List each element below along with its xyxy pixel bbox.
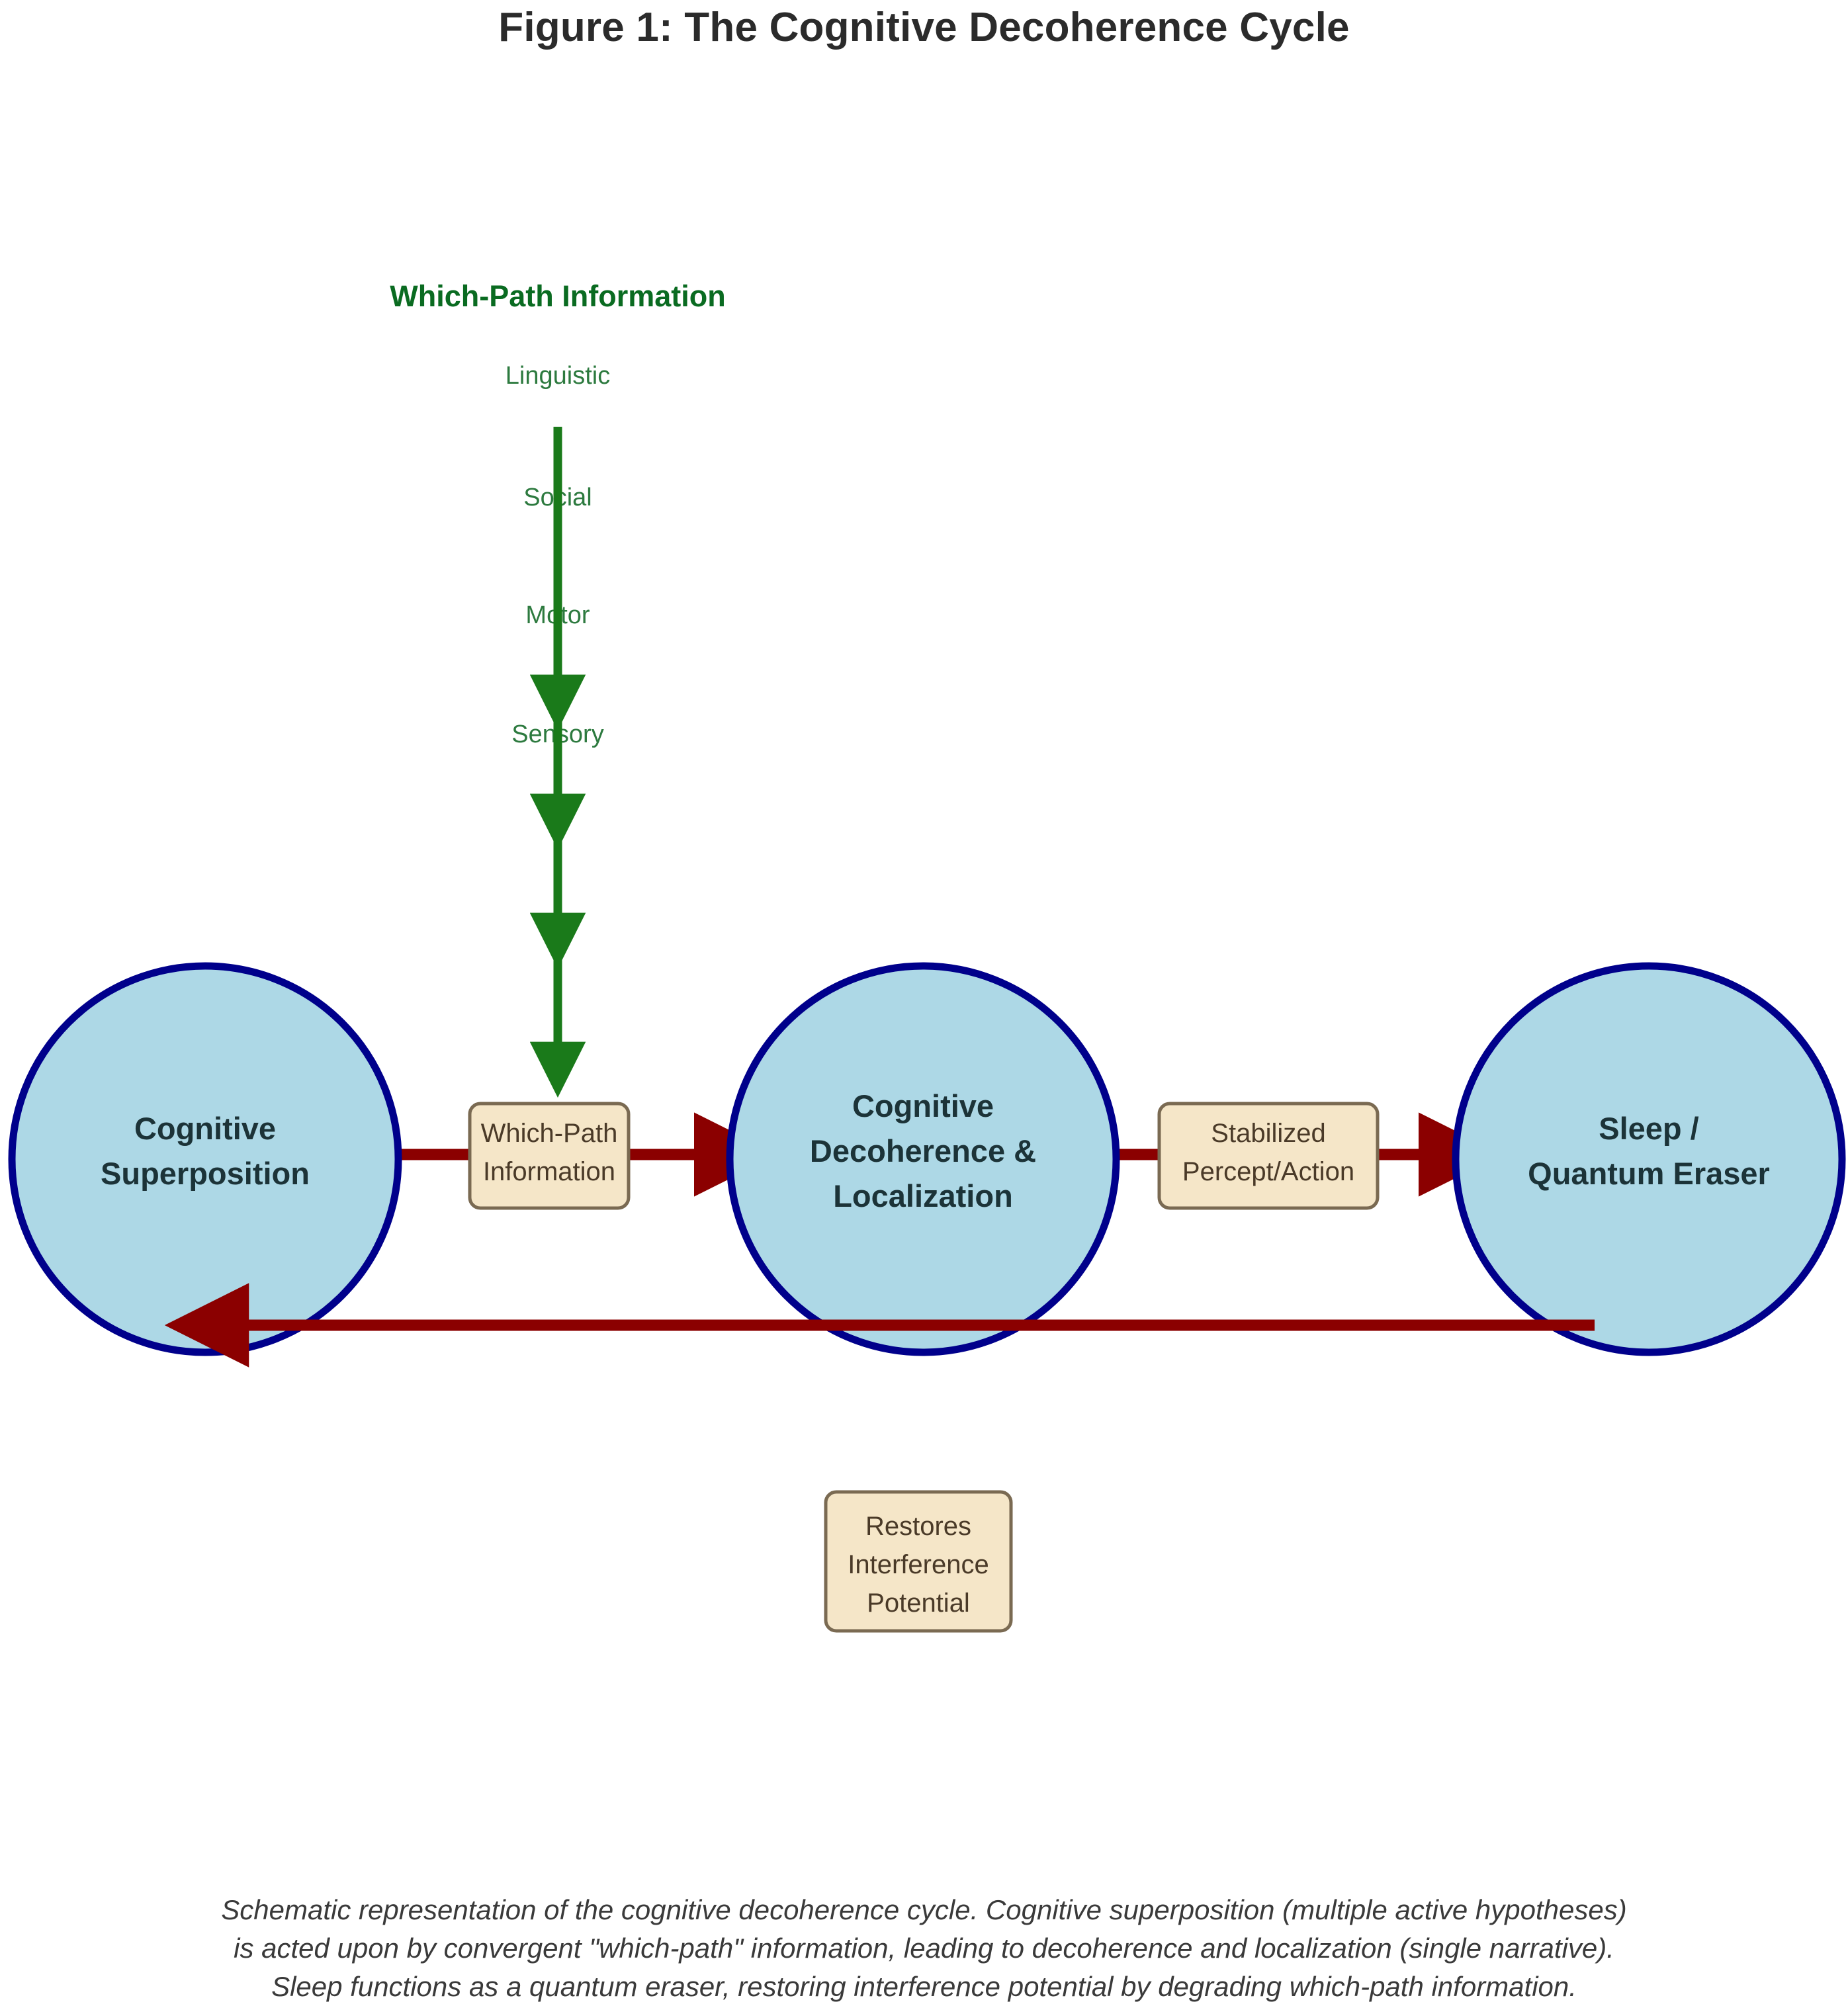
caption-line-1: Schematic representation of the cognitiv…: [26, 1891, 1822, 1929]
edge-label-stabilized-line2: Percept/Action: [1182, 1157, 1354, 1186]
edge-label-which-path-line2: Information: [483, 1157, 615, 1186]
node-superposition[interactable]: Cognitive Superposition: [12, 966, 398, 1352]
node-superposition-label-line1: Cognitive: [134, 1111, 276, 1146]
figure-caption: Schematic representation of the cognitiv…: [26, 1891, 1822, 2006]
caption-line-3: Sleep functions as a quantum eraser, res…: [26, 1968, 1822, 2006]
node-decoherence-label-line2: Decoherence &: [810, 1133, 1036, 1168]
which-path-item-linguistic: Linguistic: [506, 362, 610, 390]
node-decoherence-label-line1: Cognitive: [852, 1088, 994, 1123]
edge-label-stabilized-percept-action: Stabilized Percept/Action: [1159, 1104, 1378, 1208]
which-path-information-group: Which-Path Information Linguistic Social…: [390, 279, 725, 1088]
node-sleep[interactable]: Sleep / Quantum Eraser: [1456, 966, 1842, 1352]
edge-label-restores-interference-potential: Restores Interference Potential: [826, 1492, 1011, 1631]
edge-label-restores-line1: Restores: [865, 1512, 971, 1541]
node-sleep-label-line1: Sleep /: [1599, 1111, 1699, 1146]
node-sleep-label-line2: Quantum Eraser: [1528, 1156, 1770, 1191]
edge-label-restores-line2: Interference: [848, 1550, 989, 1579]
cognitive-decoherence-diagram: Which-Path Information Linguistic Social…: [0, 0, 1848, 1853]
caption-line-2: is acted upon by convergent "which-path"…: [26, 1929, 1822, 1968]
node-superposition-label-line2: Superposition: [101, 1156, 310, 1191]
edge-label-stabilized-line1: Stabilized: [1211, 1119, 1325, 1148]
edge-label-which-path-line1: Which-Path: [481, 1119, 618, 1148]
which-path-group-heading: Which-Path Information: [390, 279, 725, 313]
edge-label-restores-line3: Potential: [867, 1589, 970, 1618]
node-decoherence[interactable]: Cognitive Decoherence & Localization: [730, 966, 1116, 1352]
edge-label-which-path-information: Which-Path Information: [470, 1104, 629, 1208]
node-decoherence-label-line3: Localization: [833, 1178, 1013, 1213]
